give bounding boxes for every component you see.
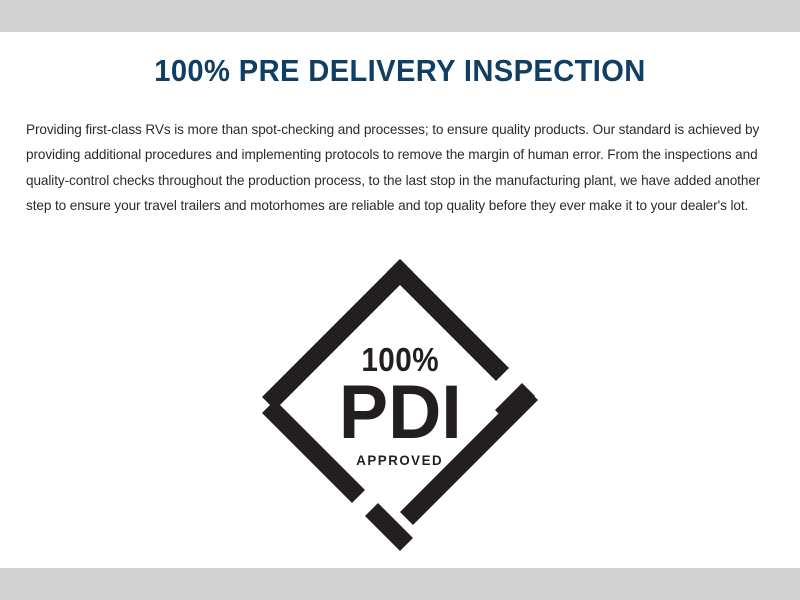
screenshot-viewport: 100% PRE DELIVERY INSPECTION Providing f… [0, 0, 800, 600]
badge-container: 100% PDI APPROVED [0, 255, 800, 555]
letterbox-top [0, 0, 800, 32]
letterbox-bottom [0, 568, 800, 600]
pdi-approved-badge: 100% PDI APPROVED [250, 255, 550, 555]
content-pane: 100% PRE DELIVERY INSPECTION Providing f… [0, 32, 800, 568]
intro-paragraph: Providing first-class RVs is more than s… [0, 89, 800, 219]
diamond-outline-icon [250, 255, 550, 555]
page-title: 100% PRE DELIVERY INSPECTION [24, 32, 776, 89]
